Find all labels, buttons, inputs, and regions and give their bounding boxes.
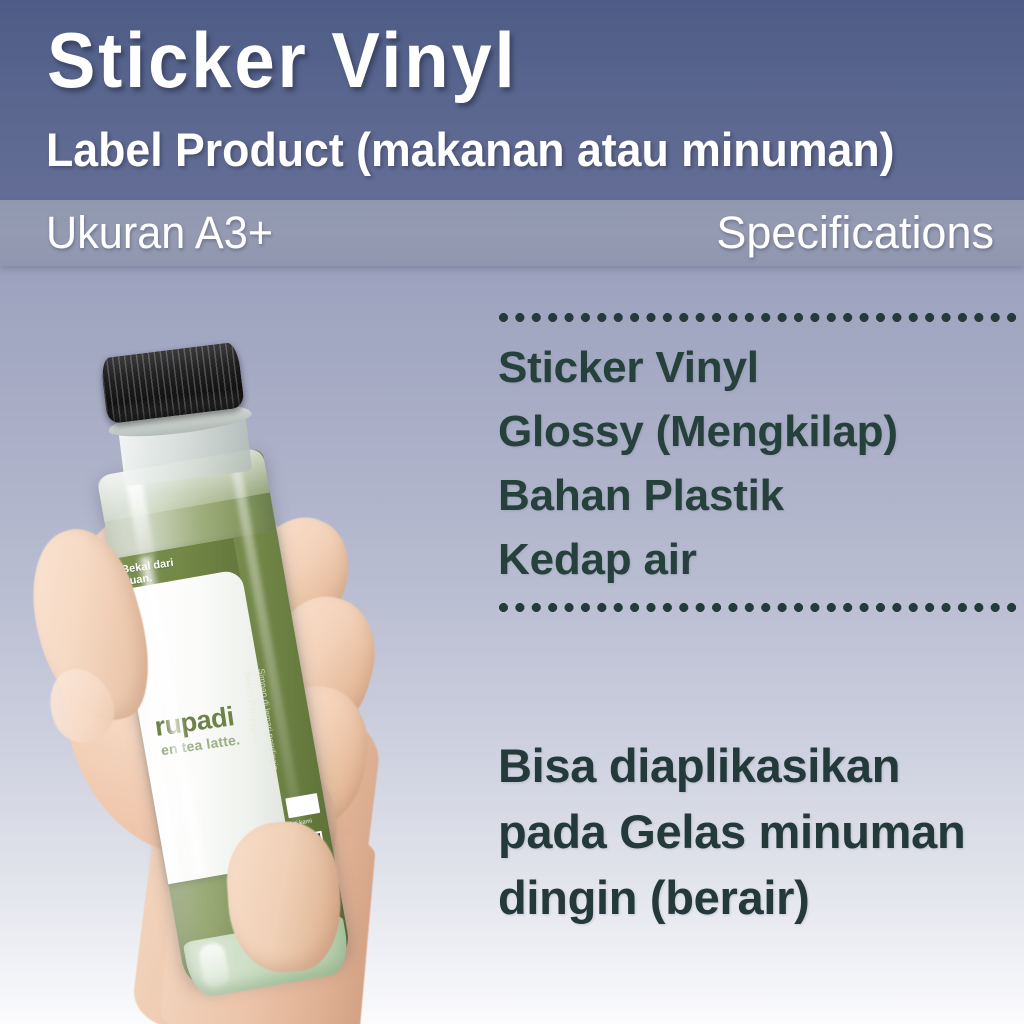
info-band: Ukuran A3+ Specifications xyxy=(0,200,1024,266)
dotted-divider-bottom xyxy=(498,602,1020,613)
spec-item: Glossy (Mengkilap) xyxy=(498,400,1022,464)
application-note: Bisa diaplikasikan pada Gelas minuman di… xyxy=(498,733,1024,931)
spec-item: Bahan Plastik xyxy=(498,464,1022,528)
application-note-line: dingin (berair) xyxy=(498,865,1024,931)
product-photo: Bekal dari puan. rupadi en tea latte. Sa… xyxy=(0,266,470,1024)
application-note-line: Bisa diaplikasikan xyxy=(498,733,1024,799)
spec-item: Kedap air xyxy=(498,528,1022,592)
page-title: Sticker Vinyl xyxy=(47,18,517,102)
dotted-divider-top xyxy=(498,312,1020,323)
poster-canvas: Sticker Vinyl Label Product (makanan ata… xyxy=(0,0,1024,1024)
specifications-heading: Specifications xyxy=(716,207,994,259)
size-label: Ukuran A3+ xyxy=(46,207,273,259)
header-banner: Sticker Vinyl Label Product (makanan ata… xyxy=(0,0,1024,200)
specifications-panel: Sticker Vinyl Glossy (Mengkilap) Bahan P… xyxy=(498,312,1022,613)
spec-item: Sticker Vinyl xyxy=(498,336,1022,400)
application-note-line: pada Gelas minuman xyxy=(498,799,1024,865)
specifications-list: Sticker Vinyl Glossy (Mengkilap) Bahan P… xyxy=(498,336,1022,592)
page-subtitle: Label Product (makanan atau minuman) xyxy=(46,124,895,176)
